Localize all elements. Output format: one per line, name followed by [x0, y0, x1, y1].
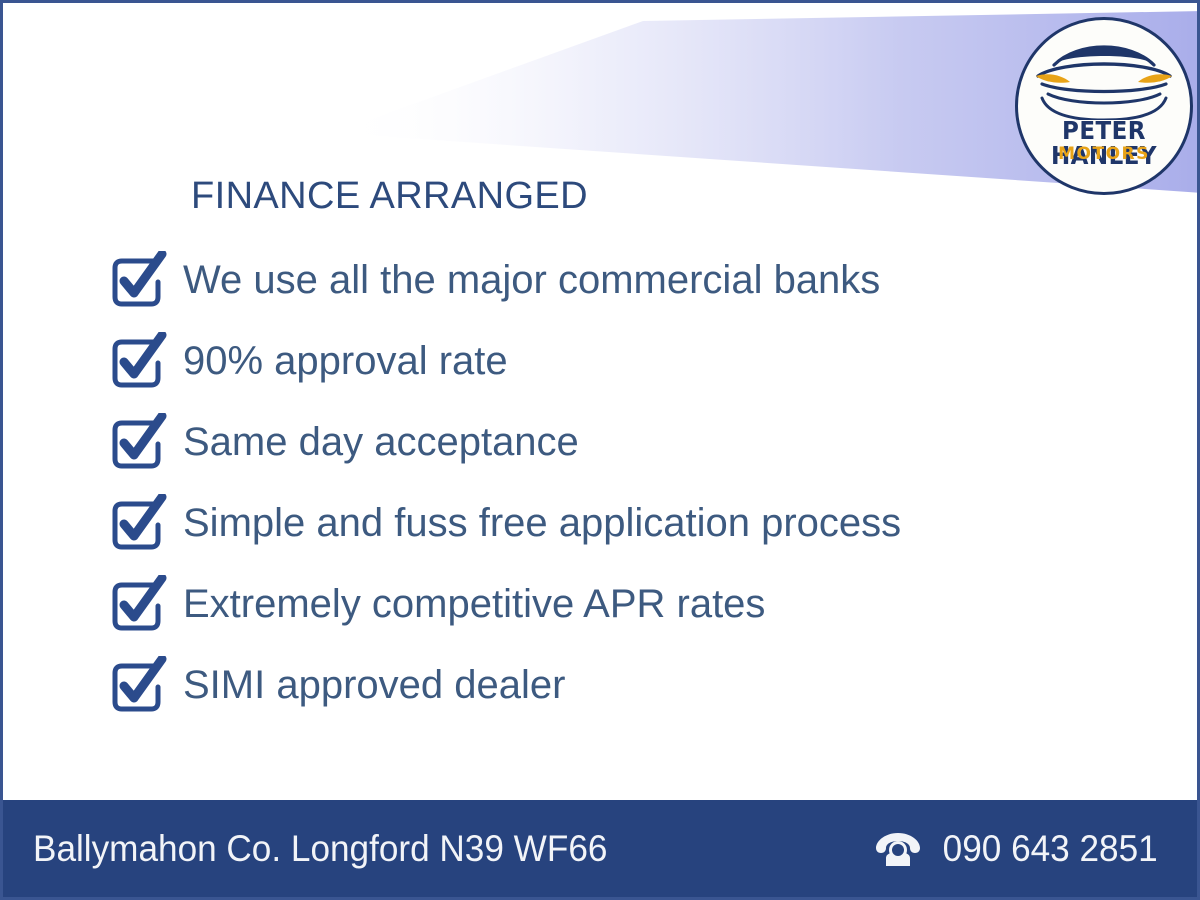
list-item-label: 90% approval rate	[183, 341, 508, 385]
car-silhouette-icon	[1028, 32, 1180, 120]
footer-phone-block[interactable]: 090 643 2851	[875, 828, 1163, 870]
checkbox-checked-icon	[107, 656, 169, 718]
page-title: FINANCE ARRANGED	[191, 175, 588, 218]
list-item: 90% approval rate	[107, 322, 1107, 403]
list-item: We use all the major commercial banks	[107, 241, 1107, 322]
benefits-list: We use all the major commercial banks 90…	[107, 241, 1107, 727]
finance-arranged-banner: PETER HANLEY MOTORS FINANCE ARRANGED We …	[0, 0, 1200, 900]
list-item-label: Simple and fuss free application process	[183, 503, 901, 547]
contact-footer-bar: Ballymahon Co. Longford N39 WF66 090 643…	[3, 800, 1200, 897]
list-item-label: Extremely competitive APR rates	[183, 584, 765, 628]
list-item-label: Same day acceptance	[183, 422, 579, 466]
checkbox-checked-icon	[107, 251, 169, 313]
brand-logo: PETER HANLEY MOTORS	[1015, 17, 1193, 195]
list-item: Same day acceptance	[107, 403, 1107, 484]
checkbox-checked-icon	[107, 575, 169, 637]
checkbox-checked-icon	[107, 332, 169, 394]
checkbox-checked-icon	[107, 413, 169, 475]
footer-address: Ballymahon Co. Longford N39 WF66	[33, 828, 607, 870]
logo-brand-subtitle: MOTORS	[1018, 146, 1190, 163]
list-item: Extremely competitive APR rates	[107, 565, 1107, 646]
footer-phone-number: 090 643 2851	[942, 828, 1157, 870]
checkbox-checked-icon	[107, 494, 169, 556]
list-item: SIMI approved dealer	[107, 646, 1107, 727]
list-item: Simple and fuss free application process	[107, 484, 1107, 565]
list-item-label: SIMI approved dealer	[183, 665, 565, 709]
list-item-label: We use all the major commercial banks	[183, 260, 880, 304]
telephone-icon	[875, 829, 921, 869]
